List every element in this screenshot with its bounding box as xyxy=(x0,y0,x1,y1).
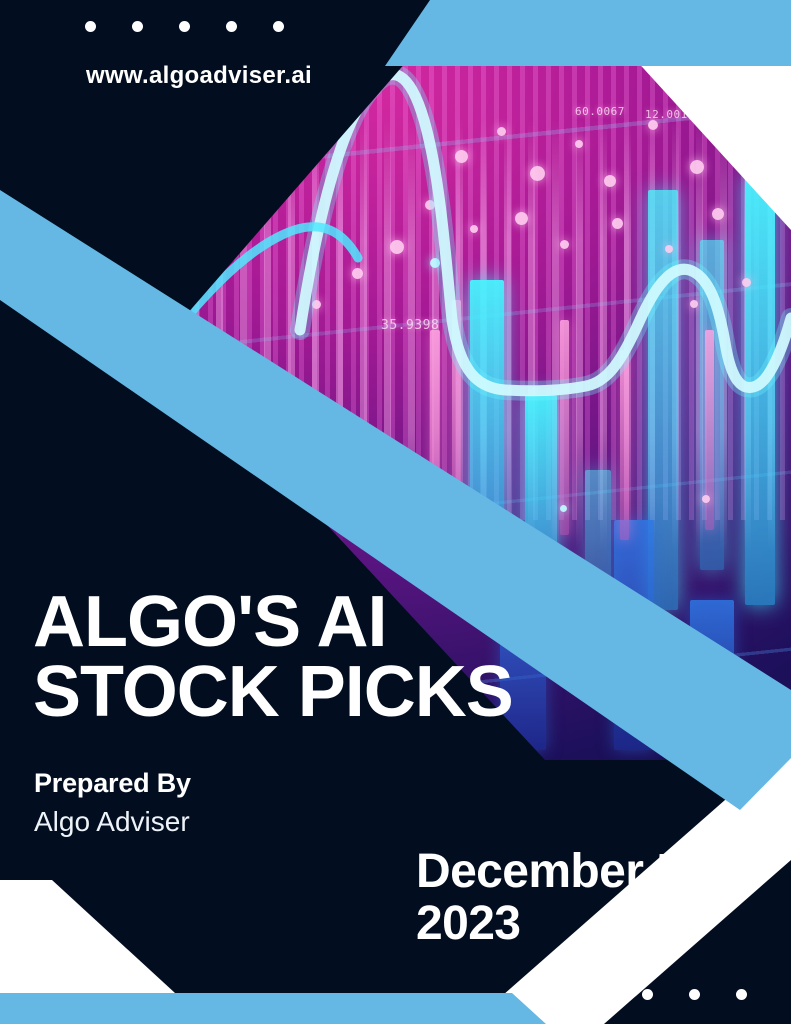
artwork-price-label: 12.001 xyxy=(645,108,688,121)
website-url[interactable]: www.algoadviser.ai xyxy=(86,62,312,90)
decor-dot xyxy=(548,989,559,1000)
artwork-price-label: 35.9398 xyxy=(381,318,439,333)
top-dot-row xyxy=(85,21,284,32)
decor-dot xyxy=(85,21,96,32)
decor-dot xyxy=(642,989,653,1000)
page-title: ALGO'S AI STOCK PICKS xyxy=(33,588,513,728)
bottom-dot-row xyxy=(548,989,747,1000)
decor-dot xyxy=(179,21,190,32)
artwork-price-label: 60.0067 xyxy=(575,105,625,118)
report-cover: 35.9398 60.0067 12.001 www.algoadviser.a… xyxy=(0,0,791,1024)
decor-dot xyxy=(595,989,606,1000)
decor-dot xyxy=(226,21,237,32)
decor-dot xyxy=(132,21,143,32)
decor-dot xyxy=(689,989,700,1000)
cover-date: December 5, 2023 xyxy=(416,846,761,950)
prepared-by-name: Algo Adviser xyxy=(34,806,190,838)
decor-dot xyxy=(736,989,747,1000)
prepared-by-label: Prepared By xyxy=(34,768,191,799)
decor-dot xyxy=(273,21,284,32)
